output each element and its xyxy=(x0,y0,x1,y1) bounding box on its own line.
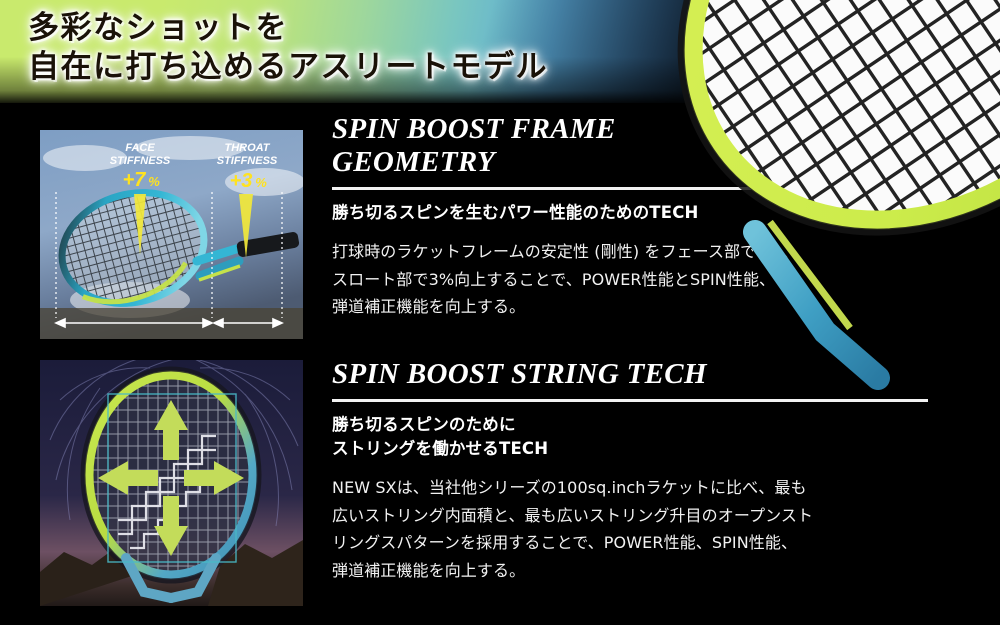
panel1-face-value: +7 xyxy=(123,169,147,191)
section-1-divider xyxy=(332,187,908,190)
panel1-face-value-unit: % xyxy=(148,174,160,189)
section-2-divider xyxy=(332,399,928,402)
section-1-subtitle: 勝ち切るスピンを生むパワー性能のためのTECH xyxy=(332,201,932,225)
banner-headline: 多彩なショットを自在に打ち込めるアスリートモデル xyxy=(28,9,548,87)
section-spin-boost-string-tech: SPIN BOOST STRING TECH 勝ち切るスピンのために ストリング… xyxy=(332,358,932,584)
panel1-face-label-line2: STIFFNESS xyxy=(110,155,171,167)
section-1-title: SPIN BOOST FRAME GEOMETRY xyxy=(332,113,932,179)
panel-string-tech-image xyxy=(40,360,303,606)
section-2-subtitle: 勝ち切るスピンのために ストリングを働かせるTECH xyxy=(332,413,932,461)
panel1-throat-label-line2: STIFFNESS xyxy=(217,155,278,167)
header-banner: 多彩なショットを自在に打ち込めるアスリートモデル xyxy=(0,0,1000,103)
content-area: FACE STIFFNESS +7 % THROAT STIFFNESS +3 … xyxy=(0,103,1000,625)
panel1-face-label-line1: FACE xyxy=(125,142,155,154)
banner-headline-line1: 多彩なショットを xyxy=(28,10,288,46)
panel1-throat-value: +3 xyxy=(230,170,253,192)
section-2-body: NEW SXは、当社他シリーズの100sq.inchラケットに比べ、最も 広いス… xyxy=(332,474,932,584)
product-tech-infographic: 多彩なショットを自在に打ち込めるアスリートモデル xyxy=(0,0,1000,625)
panel1-throat-label-line1: THROAT xyxy=(224,142,270,154)
section-2-title: SPIN BOOST STRING TECH xyxy=(332,358,932,391)
section-1-body: 打球時のラケットフレームの安定性 (剛性) をフェース部で7%、 スロート部で3… xyxy=(332,238,932,321)
banner-headline-line2: 自在に打ち込めるアスリートモデル xyxy=(28,48,548,87)
section-spin-boost-frame-geometry: SPIN BOOST FRAME GEOMETRY 勝ち切るスピンを生むパワー性… xyxy=(332,113,932,321)
panel-frame-geometry-image: FACE STIFFNESS +7 % THROAT STIFFNESS +3 … xyxy=(40,130,303,339)
panel1-throat-value-unit: % xyxy=(255,175,267,190)
